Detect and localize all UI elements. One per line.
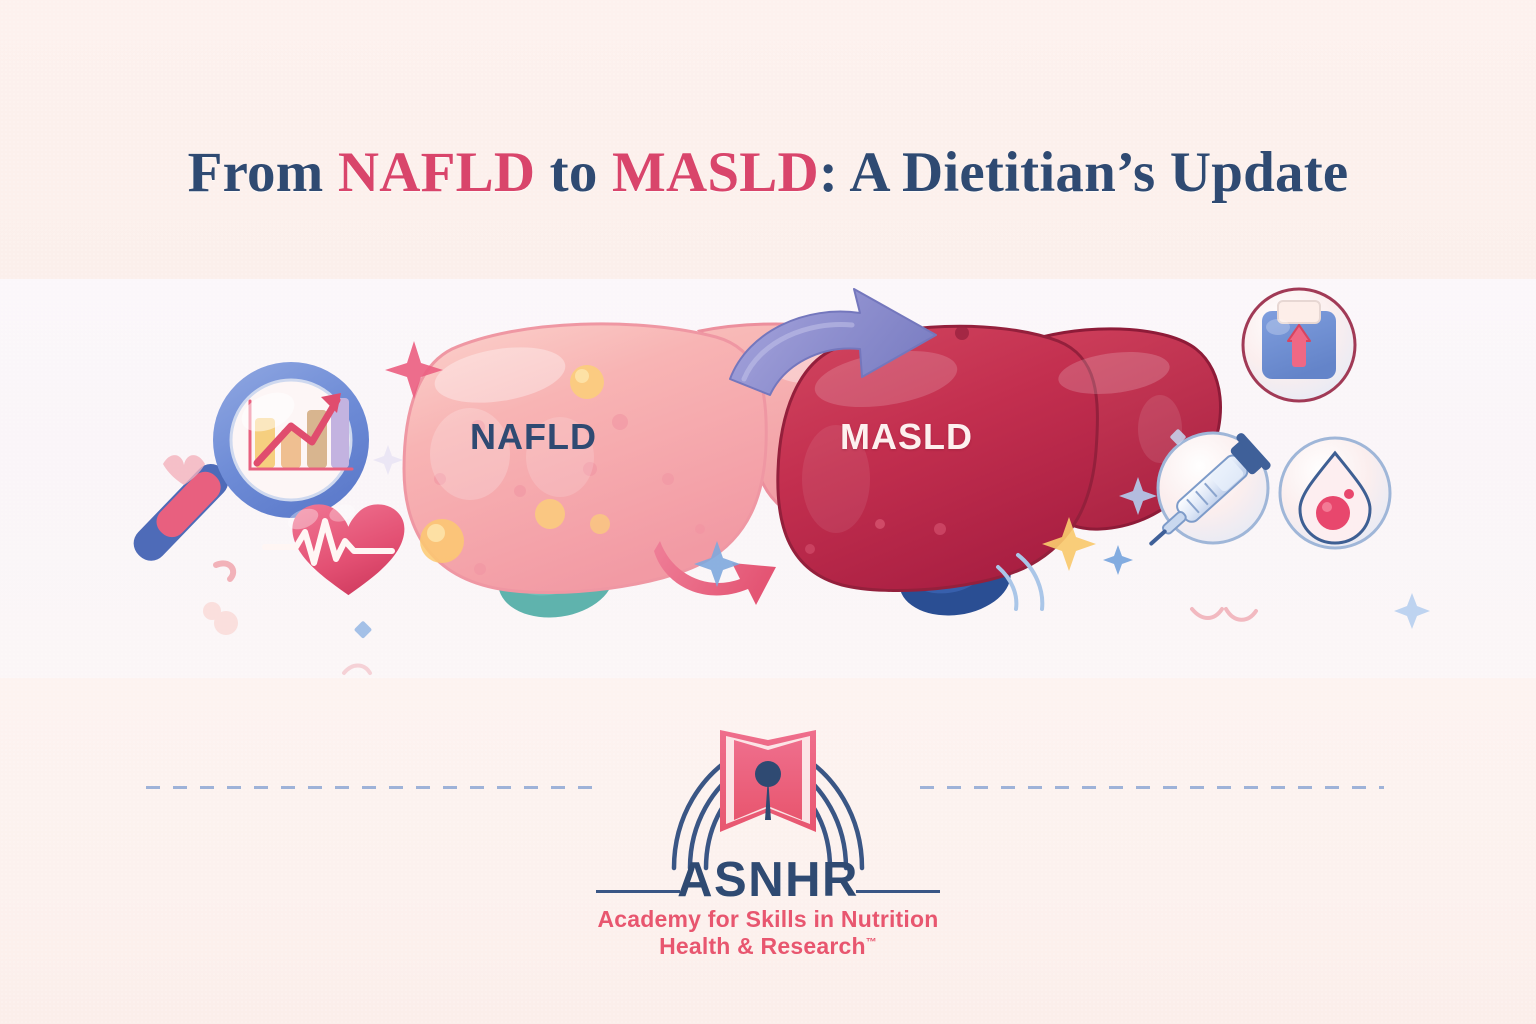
title-highlight-masld: MASLD <box>612 141 819 204</box>
logo-acronym: ASNHR <box>0 852 1536 908</box>
logo-tagline-line1: Academy for Skills in Nutrition <box>0 906 1536 933</box>
masld-liver-illustration <box>778 326 1221 622</box>
title-highlight-nafld: NAFLD <box>338 141 535 204</box>
illustration-graphic <box>0 279 1536 678</box>
title-part-3: : A Dietitian’s Update <box>819 141 1349 204</box>
logo-tagline-text: Health & Research <box>659 933 866 959</box>
clipboard-scale-icon <box>1243 289 1355 401</box>
trademark-symbol: ™ <box>866 936 877 948</box>
logo-tagline-line2: Health & Research™ <box>0 933 1536 960</box>
blood-drop-icon <box>1280 438 1390 548</box>
poster-canvas: From NAFLD to MASLD: A Dietitian’s Updat… <box>0 0 1536 1024</box>
title-part-2: to <box>535 141 612 204</box>
page-title: From NAFLD to MASLD: A Dietitian’s Updat… <box>0 140 1536 205</box>
title-part-1: From <box>188 141 338 204</box>
